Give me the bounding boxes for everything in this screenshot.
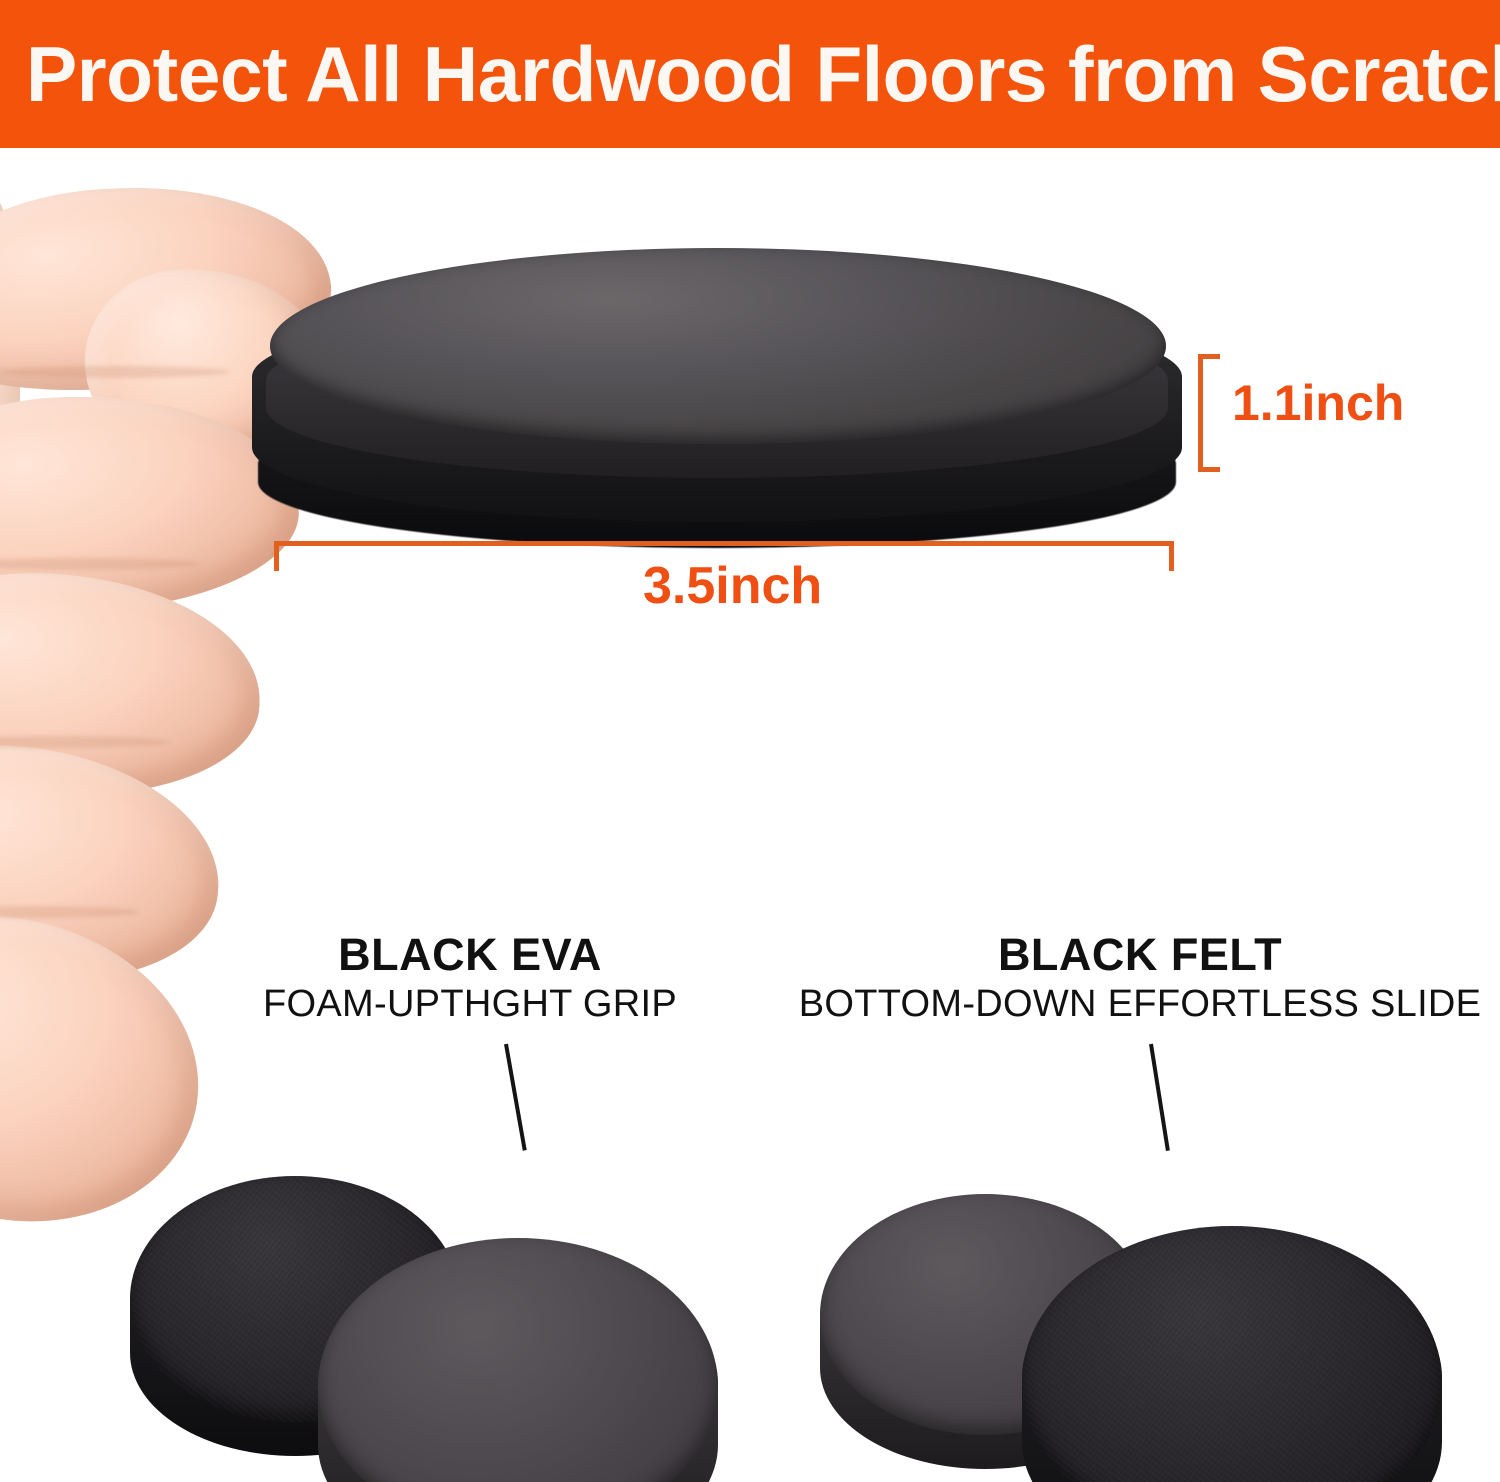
product-photo: 1.1inch 3.5inch BLACK EVA FOAM-UPTHGHT G… (0, 148, 1500, 1482)
hero-pad-top-surface (270, 248, 1166, 444)
feature-eva-title: BLACK EVA (190, 930, 750, 980)
feature-label-eva: BLACK EVA FOAM-UPTHGHT GRIP (190, 930, 750, 1028)
pad-surface (318, 1238, 718, 1482)
feature-felt-subtitle: BOTTOM-DOWN EFFORTLESS SLIDE (790, 980, 1490, 1028)
knuckle-crease (0, 366, 230, 378)
banner-title: Protect All Hardwood Floors from Scratch… (26, 26, 1464, 122)
header-banner: Protect All Hardwood Floors from Scratch… (0, 0, 1500, 148)
diameter-label: 3.5inch (643, 556, 822, 616)
pad-left-front-eva (318, 1238, 718, 1482)
pad-right-front-felt (1022, 1226, 1442, 1482)
thickness-bracket (1198, 354, 1220, 472)
hero-furniture-pad (252, 248, 1182, 548)
pad-surface (1022, 1226, 1442, 1482)
feature-felt-title: BLACK FELT (790, 930, 1490, 980)
product-infographic: Protect All Hardwood Floors from Scratch… (0, 0, 1500, 1482)
leader-line-felt (1149, 1044, 1170, 1151)
thickness-label: 1.1inch (1232, 374, 1404, 432)
feature-eva-subtitle: FOAM-UPTHGHT GRIP (190, 980, 750, 1028)
feature-label-felt: BLACK FELT BOTTOM-DOWN EFFORTLESS SLIDE (790, 930, 1490, 1028)
leader-line-eva (504, 1044, 527, 1151)
